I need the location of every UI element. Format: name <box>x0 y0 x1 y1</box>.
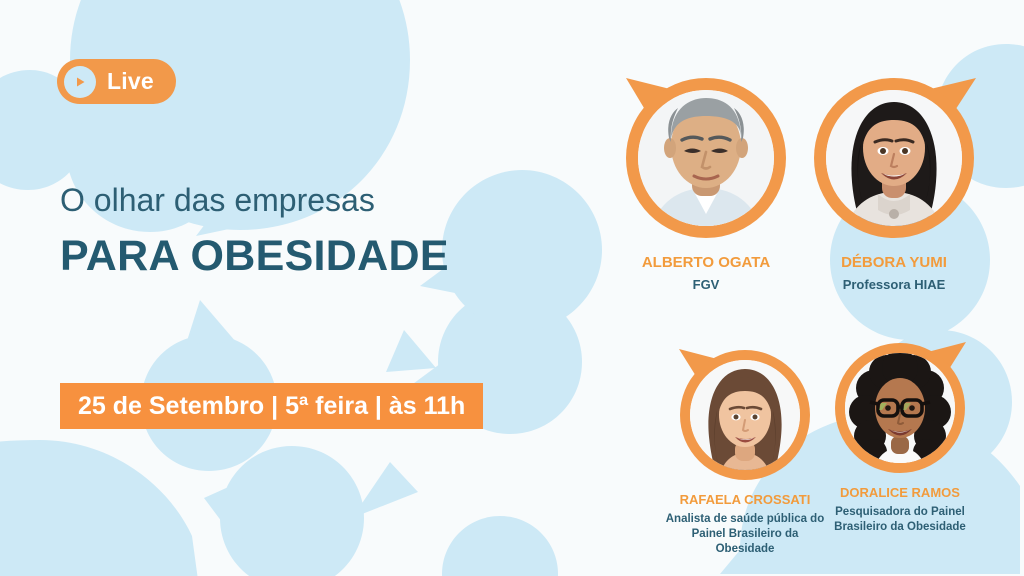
speaker-role: Analista de saúde pública do Painel Bras… <box>665 512 825 557</box>
avatar <box>808 72 980 244</box>
speaker-card-rafaela-crossati: RAFAELA CROSSATI Analista de saúde públi… <box>665 345 825 557</box>
avatar <box>830 338 970 478</box>
play-icon <box>64 66 96 98</box>
speaker-name: DORALICE RAMOS <box>840 486 960 501</box>
speaker-card-alberto-ogata: ALBERTO OGATA FGV <box>620 72 792 294</box>
event-date-text: 25 de Setembro | 5ª feira | às 11h <box>78 394 465 419</box>
speaker-card-doralice-ramos: DORALICE RAMOS Pesquisadora do Painel Br… <box>820 338 980 535</box>
speaker-role: FGV <box>693 277 720 294</box>
speaker-card-debora-yumi: DÉBORA YUMI Professora HIAE <box>808 72 980 294</box>
avatar <box>675 345 815 485</box>
live-label: Live <box>107 70 154 93</box>
speaker-role: Pesquisadora do Painel Brasileiro da Obe… <box>820 505 980 535</box>
live-badge: Live <box>57 59 176 104</box>
speaker-name: DÉBORA YUMI <box>841 254 947 271</box>
page-title: PARA OBESIDADE <box>60 233 449 280</box>
avatar <box>620 72 792 244</box>
headline-subtitle: O olhar das empresas <box>60 183 375 218</box>
speaker-name: ALBERTO OGATA <box>642 254 770 271</box>
promo-poster: Live O olhar das empresas PARA OBESIDADE… <box>0 0 1024 576</box>
speaker-role: Professora HIAE <box>843 277 946 294</box>
speaker-name: RAFAELA CROSSATI <box>680 493 811 508</box>
event-date-banner: 25 de Setembro | 5ª feira | às 11h <box>60 383 483 429</box>
